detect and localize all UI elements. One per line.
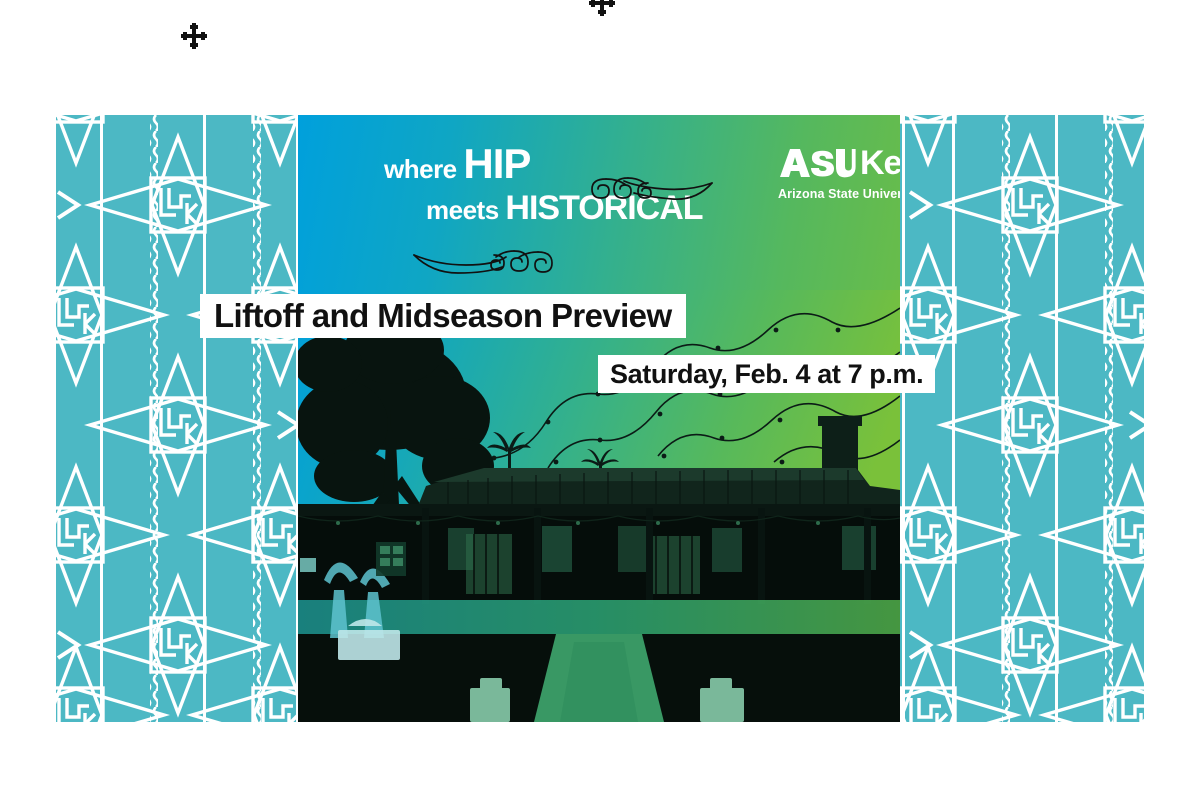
pattern-band-left [56, 115, 298, 722]
tagline-where: where [384, 154, 457, 184]
event-date-band: Saturday, Feb. 4 at 7 p.m. [598, 355, 935, 393]
asu-kerr-logo: Kerr Arizona State University [778, 146, 900, 201]
screenshot-canvas: where HIP meets HISTORICAL [0, 0, 1200, 800]
pattern-band-right [900, 115, 1144, 722]
flourish-top-icon [584, 169, 716, 214]
registration-mark-upper-left [181, 23, 207, 49]
asu-university-subtitle: Arizona State University [778, 187, 900, 201]
tagline-meets: meets [426, 195, 499, 225]
event-title: Liftoff and Midseason Preview [214, 297, 672, 335]
tagline-hip: HIP [463, 140, 530, 187]
registration-mark-top-center [589, 0, 615, 16]
event-poster: where HIP meets HISTORICAL [56, 115, 1144, 722]
tagline-lockup: where HIP meets HISTORICAL [384, 143, 714, 225]
poster-center-panel: where HIP meets HISTORICAL [298, 115, 900, 722]
event-date: Saturday, Feb. 4 at 7 p.m. [610, 359, 923, 390]
logo-row: Kerr [778, 146, 900, 180]
kerr-wordmark: Kerr [860, 146, 900, 180]
asu-wordmark-icon [778, 147, 856, 179]
event-title-band: Liftoff and Midseason Preview [200, 294, 686, 338]
flourish-bottom-icon [410, 241, 560, 288]
